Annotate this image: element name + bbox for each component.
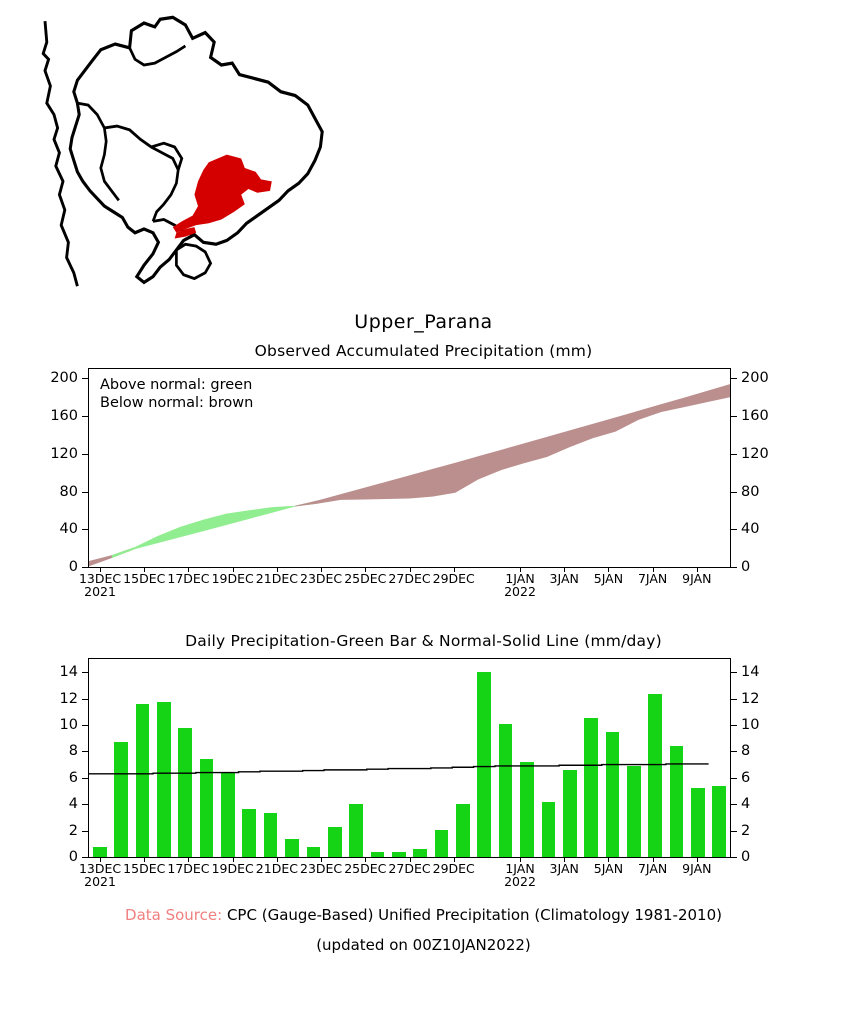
left-y-tick-label: 14 (0, 665, 78, 680)
right-y-tick-mark (731, 778, 737, 779)
area-below-normal (295, 384, 730, 506)
left-y-tick-mark (82, 699, 88, 700)
daily-chart-subtitle: Daily Precipitation-Green Bar & Normal-S… (0, 632, 847, 650)
left-y-tick-label: 10 (0, 718, 78, 733)
right-y-tick-label: 8 (741, 744, 750, 759)
x-tick-label: 5JAN (594, 572, 623, 585)
right-y-tick-label: 12 (741, 691, 759, 706)
x-tick-label: 23DEC (300, 862, 342, 875)
data-source-label: Data Source: (125, 906, 222, 924)
right-y-tick-label: 10 (741, 718, 759, 733)
x-tick-label: 9JAN (682, 862, 711, 875)
right-y-tick-mark (731, 416, 737, 417)
accumulated-precipitation-chart: Observed Accumulated Precipitation (mm) … (0, 340, 847, 610)
x-tick-label: 1JAN2022 (504, 862, 536, 888)
x-tick-label: 29DEC (433, 572, 475, 585)
left-y-tick-label: 2 (0, 823, 78, 838)
left-y-tick-mark (82, 378, 88, 379)
left-y-tick-mark (82, 567, 88, 568)
x-tick-year: 2022 (504, 585, 536, 598)
left-y-tick-mark (82, 454, 88, 455)
right-y-tick-label: 0 (741, 850, 750, 865)
right-y-tick-mark (731, 857, 737, 858)
region-locator-map (18, 4, 378, 290)
left-y-tick-label: 0 (0, 560, 78, 575)
normal-precip-line (89, 764, 709, 774)
right-y-tick-mark (731, 672, 737, 673)
left-y-tick-mark (82, 751, 88, 752)
southern-outline (176, 244, 210, 278)
left-y-tick-label: 40 (0, 522, 78, 537)
left-y-tick-mark (82, 416, 88, 417)
right-y-tick-label: 80 (741, 484, 759, 499)
accum-chart-subtitle: Observed Accumulated Precipitation (mm) (0, 342, 847, 360)
left-y-tick-label: 120 (0, 447, 78, 462)
x-tick-year: 2021 (79, 585, 121, 598)
right-y-tick-mark (731, 529, 737, 530)
x-tick-label: 15DEC (123, 572, 165, 585)
page-title: Upper_Parana (0, 311, 847, 333)
left-y-tick-mark (82, 492, 88, 493)
right-y-tick-mark (731, 831, 737, 832)
left-y-tick-label: 12 (0, 691, 78, 706)
x-tick-label: 17DEC (167, 862, 209, 875)
right-y-tick-mark (731, 751, 737, 752)
area-above-normal (112, 500, 318, 558)
left-y-tick-mark (82, 778, 88, 779)
right-y-tick-mark (731, 725, 737, 726)
south-america-map-svg (18, 4, 378, 290)
brazil-outline (70, 17, 322, 282)
daily-plot-area (88, 658, 731, 858)
right-y-tick-mark (731, 567, 737, 568)
right-y-tick-label: 40 (741, 522, 759, 537)
daily-precipitation-chart: Daily Precipitation-Green Bar & Normal-S… (0, 630, 847, 900)
x-tick-year: 2021 (79, 875, 121, 888)
right-y-tick-label: 120 (741, 447, 769, 462)
x-tick-label: 27DEC (388, 862, 430, 875)
left-y-tick-label: 8 (0, 744, 78, 759)
left-y-tick-mark (82, 831, 88, 832)
left-y-tick-label: 6 (0, 771, 78, 786)
left-y-tick-label: 80 (0, 484, 78, 499)
x-tick-label: 7JAN (638, 572, 667, 585)
normal-line-series (89, 659, 730, 857)
x-tick-label: 19DEC (212, 862, 254, 875)
right-y-tick-mark (731, 378, 737, 379)
right-y-tick-label: 160 (741, 409, 769, 424)
x-tick-label: 7JAN (638, 862, 667, 875)
x-tick-label: 21DEC (256, 862, 298, 875)
x-tick-label: 29DEC (433, 862, 475, 875)
x-tick-label: 25DEC (344, 862, 386, 875)
x-tick-label: 17DEC (167, 572, 209, 585)
x-tick-label: 13DEC2021 (79, 862, 121, 888)
x-tick-label: 3JAN (550, 572, 579, 585)
x-tick-label: 25DEC (344, 572, 386, 585)
right-y-tick-label: 4 (741, 797, 750, 812)
left-y-tick-mark (82, 725, 88, 726)
legend-above-normal: Above normal: green (100, 376, 252, 394)
right-y-tick-mark (731, 454, 737, 455)
map-landmasses (43, 17, 322, 286)
updated-line: (updated on 00Z10JAN2022) (0, 930, 847, 960)
right-y-tick-mark (731, 804, 737, 805)
left-y-tick-label: 4 (0, 797, 78, 812)
left-y-tick-label: 200 (0, 371, 78, 386)
x-tick-label: 19DEC (212, 572, 254, 585)
x-tick-label: 13DEC2021 (79, 572, 121, 598)
x-tick-label: 5JAN (594, 862, 623, 875)
right-y-tick-label: 14 (741, 665, 759, 680)
right-y-tick-label: 200 (741, 371, 769, 386)
x-tick-label: 1JAN2022 (504, 572, 536, 598)
legend-below-normal: Below normal: brown (100, 394, 253, 412)
data-source-text: CPC (Gauge-Based) Unified Precipitation … (227, 906, 722, 924)
x-tick-label: 9JAN (682, 572, 711, 585)
left-y-tick-label: 160 (0, 409, 78, 424)
x-tick-year: 2022 (504, 875, 536, 888)
left-y-tick-mark (82, 529, 88, 530)
x-tick-label: 27DEC (388, 572, 430, 585)
left-y-tick-mark (82, 804, 88, 805)
left-y-tick-mark (82, 857, 88, 858)
right-y-tick-mark (731, 699, 737, 700)
right-y-tick-label: 6 (741, 771, 750, 786)
x-tick-label: 23DEC (300, 572, 342, 585)
x-tick-label: 15DEC (123, 862, 165, 875)
data-source-line: Data Source: CPC (Gauge-Based) Unified P… (0, 900, 847, 930)
x-tick-label: 21DEC (256, 572, 298, 585)
x-tick-label: 3JAN (550, 862, 579, 875)
right-y-tick-mark (731, 492, 737, 493)
right-y-tick-label: 2 (741, 823, 750, 838)
left-y-tick-mark (82, 672, 88, 673)
left-y-tick-label: 0 (0, 850, 78, 865)
right-y-tick-label: 0 (741, 560, 750, 575)
